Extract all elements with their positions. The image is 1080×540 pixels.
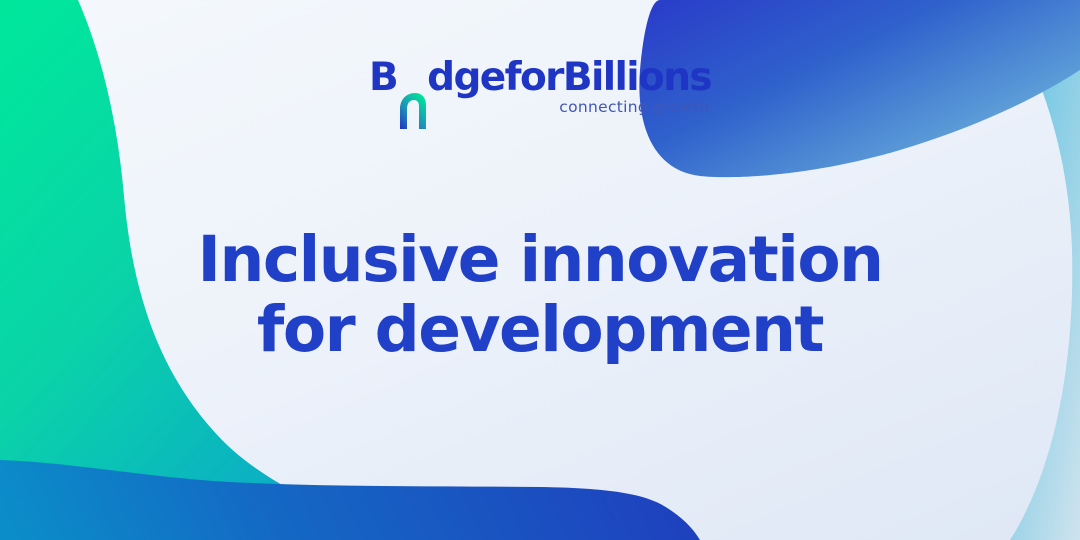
headline-line-2: for development [0,298,1080,362]
logo-wordmark: B dgeforBillions connecting growth [369,58,711,116]
brand-logo[interactable]: B dgeforBillions connecting growth [0,58,1080,117]
logo-text-part-1: B [369,55,397,100]
headline: Inclusive innovation for development [0,228,1080,363]
logo-text-part-2: dgefor [427,55,563,100]
logo-text-part-3: Billions [563,55,711,100]
headline-line-1: Inclusive innovation [0,228,1080,292]
promotional-banner: B dgeforBillions connecting growth Inclu… [0,0,1080,540]
